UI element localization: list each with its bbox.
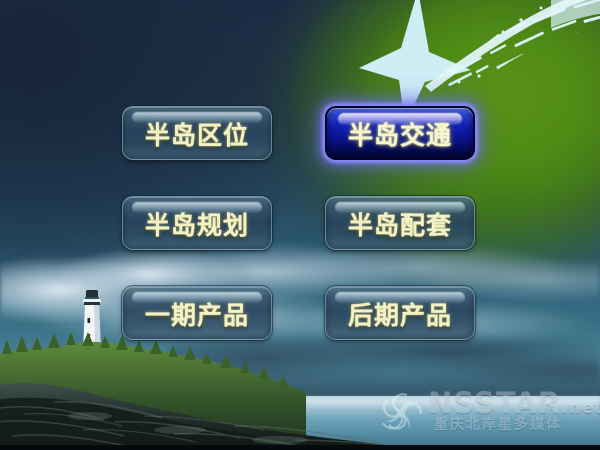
menu-button-peninsula-transport[interactable]: 半岛交通 bbox=[325, 106, 475, 160]
menu-button-phase-one-products[interactable]: 一期产品 bbox=[122, 286, 272, 340]
watermark-brand-name: NSSTAR bbox=[428, 386, 561, 420]
menu-button-label: 半岛规划 bbox=[145, 213, 249, 238]
presentation-menu-screen: 半岛区位 半岛交通 半岛规划 半岛配套 一期产品 后期产品 bbox=[0, 0, 600, 450]
swirl-icon bbox=[378, 390, 424, 436]
menu-grid: 半岛区位 半岛交通 半岛规划 半岛配套 一期产品 后期产品 bbox=[0, 0, 600, 450]
menu-button-label: 一期产品 bbox=[145, 303, 249, 328]
bottom-bar bbox=[0, 445, 600, 450]
menu-button-label: 后期产品 bbox=[348, 303, 452, 328]
menu-button-peninsula-planning[interactable]: 半岛规划 bbox=[122, 196, 272, 250]
menu-button-label: 半岛配套 bbox=[348, 213, 452, 238]
menu-button-label: 半岛区位 bbox=[145, 123, 249, 148]
menu-button-later-phase-products[interactable]: 后期产品 bbox=[325, 286, 475, 340]
watermark-tld: .net bbox=[561, 398, 600, 418]
watermark: NSSTAR.net 重庆北岸星多媒体 bbox=[378, 388, 596, 444]
menu-button-label: 半岛交通 bbox=[348, 123, 452, 148]
menu-button-peninsula-location[interactable]: 半岛区位 bbox=[122, 106, 272, 160]
watermark-brand: NSSTAR.net bbox=[428, 389, 600, 418]
watermark-subtitle: 重庆北岸星多媒体 bbox=[434, 418, 562, 432]
menu-button-peninsula-amenities[interactable]: 半岛配套 bbox=[325, 196, 475, 250]
